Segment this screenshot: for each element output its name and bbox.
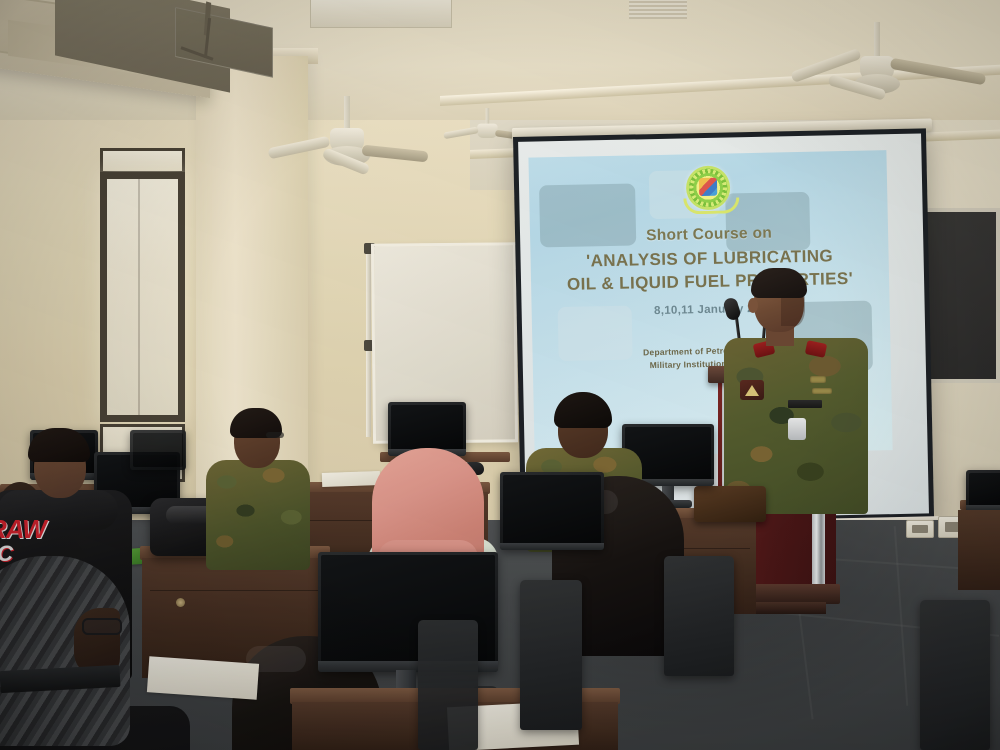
chair-foreground[interactable] — [418, 620, 478, 750]
hoodie-graphic-line-2: IC — [0, 544, 12, 564]
monitor-screen — [133, 433, 183, 467]
lecture-hall-photo: Short Course on 'ANALYSIS OF LUBRICATING… — [0, 0, 1000, 750]
window-muntin — [138, 178, 140, 416]
uniform-badge — [810, 376, 826, 383]
fan-rod — [344, 96, 350, 130]
vent-grille — [629, 0, 687, 19]
hoodie-graphic-line-1: RAW — [0, 518, 46, 542]
eyeglasses-icon — [82, 618, 122, 635]
chair-right[interactable] — [664, 556, 734, 676]
chair-far-right[interactable] — [920, 600, 990, 750]
name-tag — [788, 400, 822, 408]
mist-emblem-icon — [686, 165, 731, 210]
monitor-chin — [500, 543, 604, 550]
ceiling-vent-box — [310, 0, 452, 28]
window-transom — [100, 148, 185, 174]
uniform-ribbon — [812, 388, 832, 394]
monitor-screen — [391, 405, 463, 453]
monitor-screen — [503, 475, 601, 547]
monitor-right — [966, 470, 1000, 512]
shoulder-patch — [740, 380, 764, 400]
monitor-screen — [969, 473, 1000, 509]
drawer-seam — [150, 590, 320, 591]
drawer-knob — [176, 598, 185, 607]
chair-center[interactable] — [520, 580, 582, 730]
eyeglasses-icon — [266, 432, 284, 438]
desk-right-front — [958, 510, 1000, 590]
id-badge — [788, 418, 806, 440]
window — [100, 172, 185, 422]
monitor-center — [500, 472, 604, 550]
speaker-hair — [751, 268, 807, 298]
fan-rod — [874, 22, 880, 58]
paper-sheet — [147, 656, 259, 700]
paper-sheet — [322, 471, 380, 487]
speaker-ear — [748, 298, 758, 313]
emblem-center-cube — [699, 178, 717, 196]
fan-rod — [486, 108, 490, 125]
light-switch[interactable] — [906, 520, 934, 538]
leather-bag — [694, 486, 766, 522]
window-glass — [107, 179, 178, 415]
attendee-camo-torso — [206, 460, 310, 570]
fan-motor — [477, 124, 497, 138]
monitor-left-3 — [130, 430, 186, 470]
